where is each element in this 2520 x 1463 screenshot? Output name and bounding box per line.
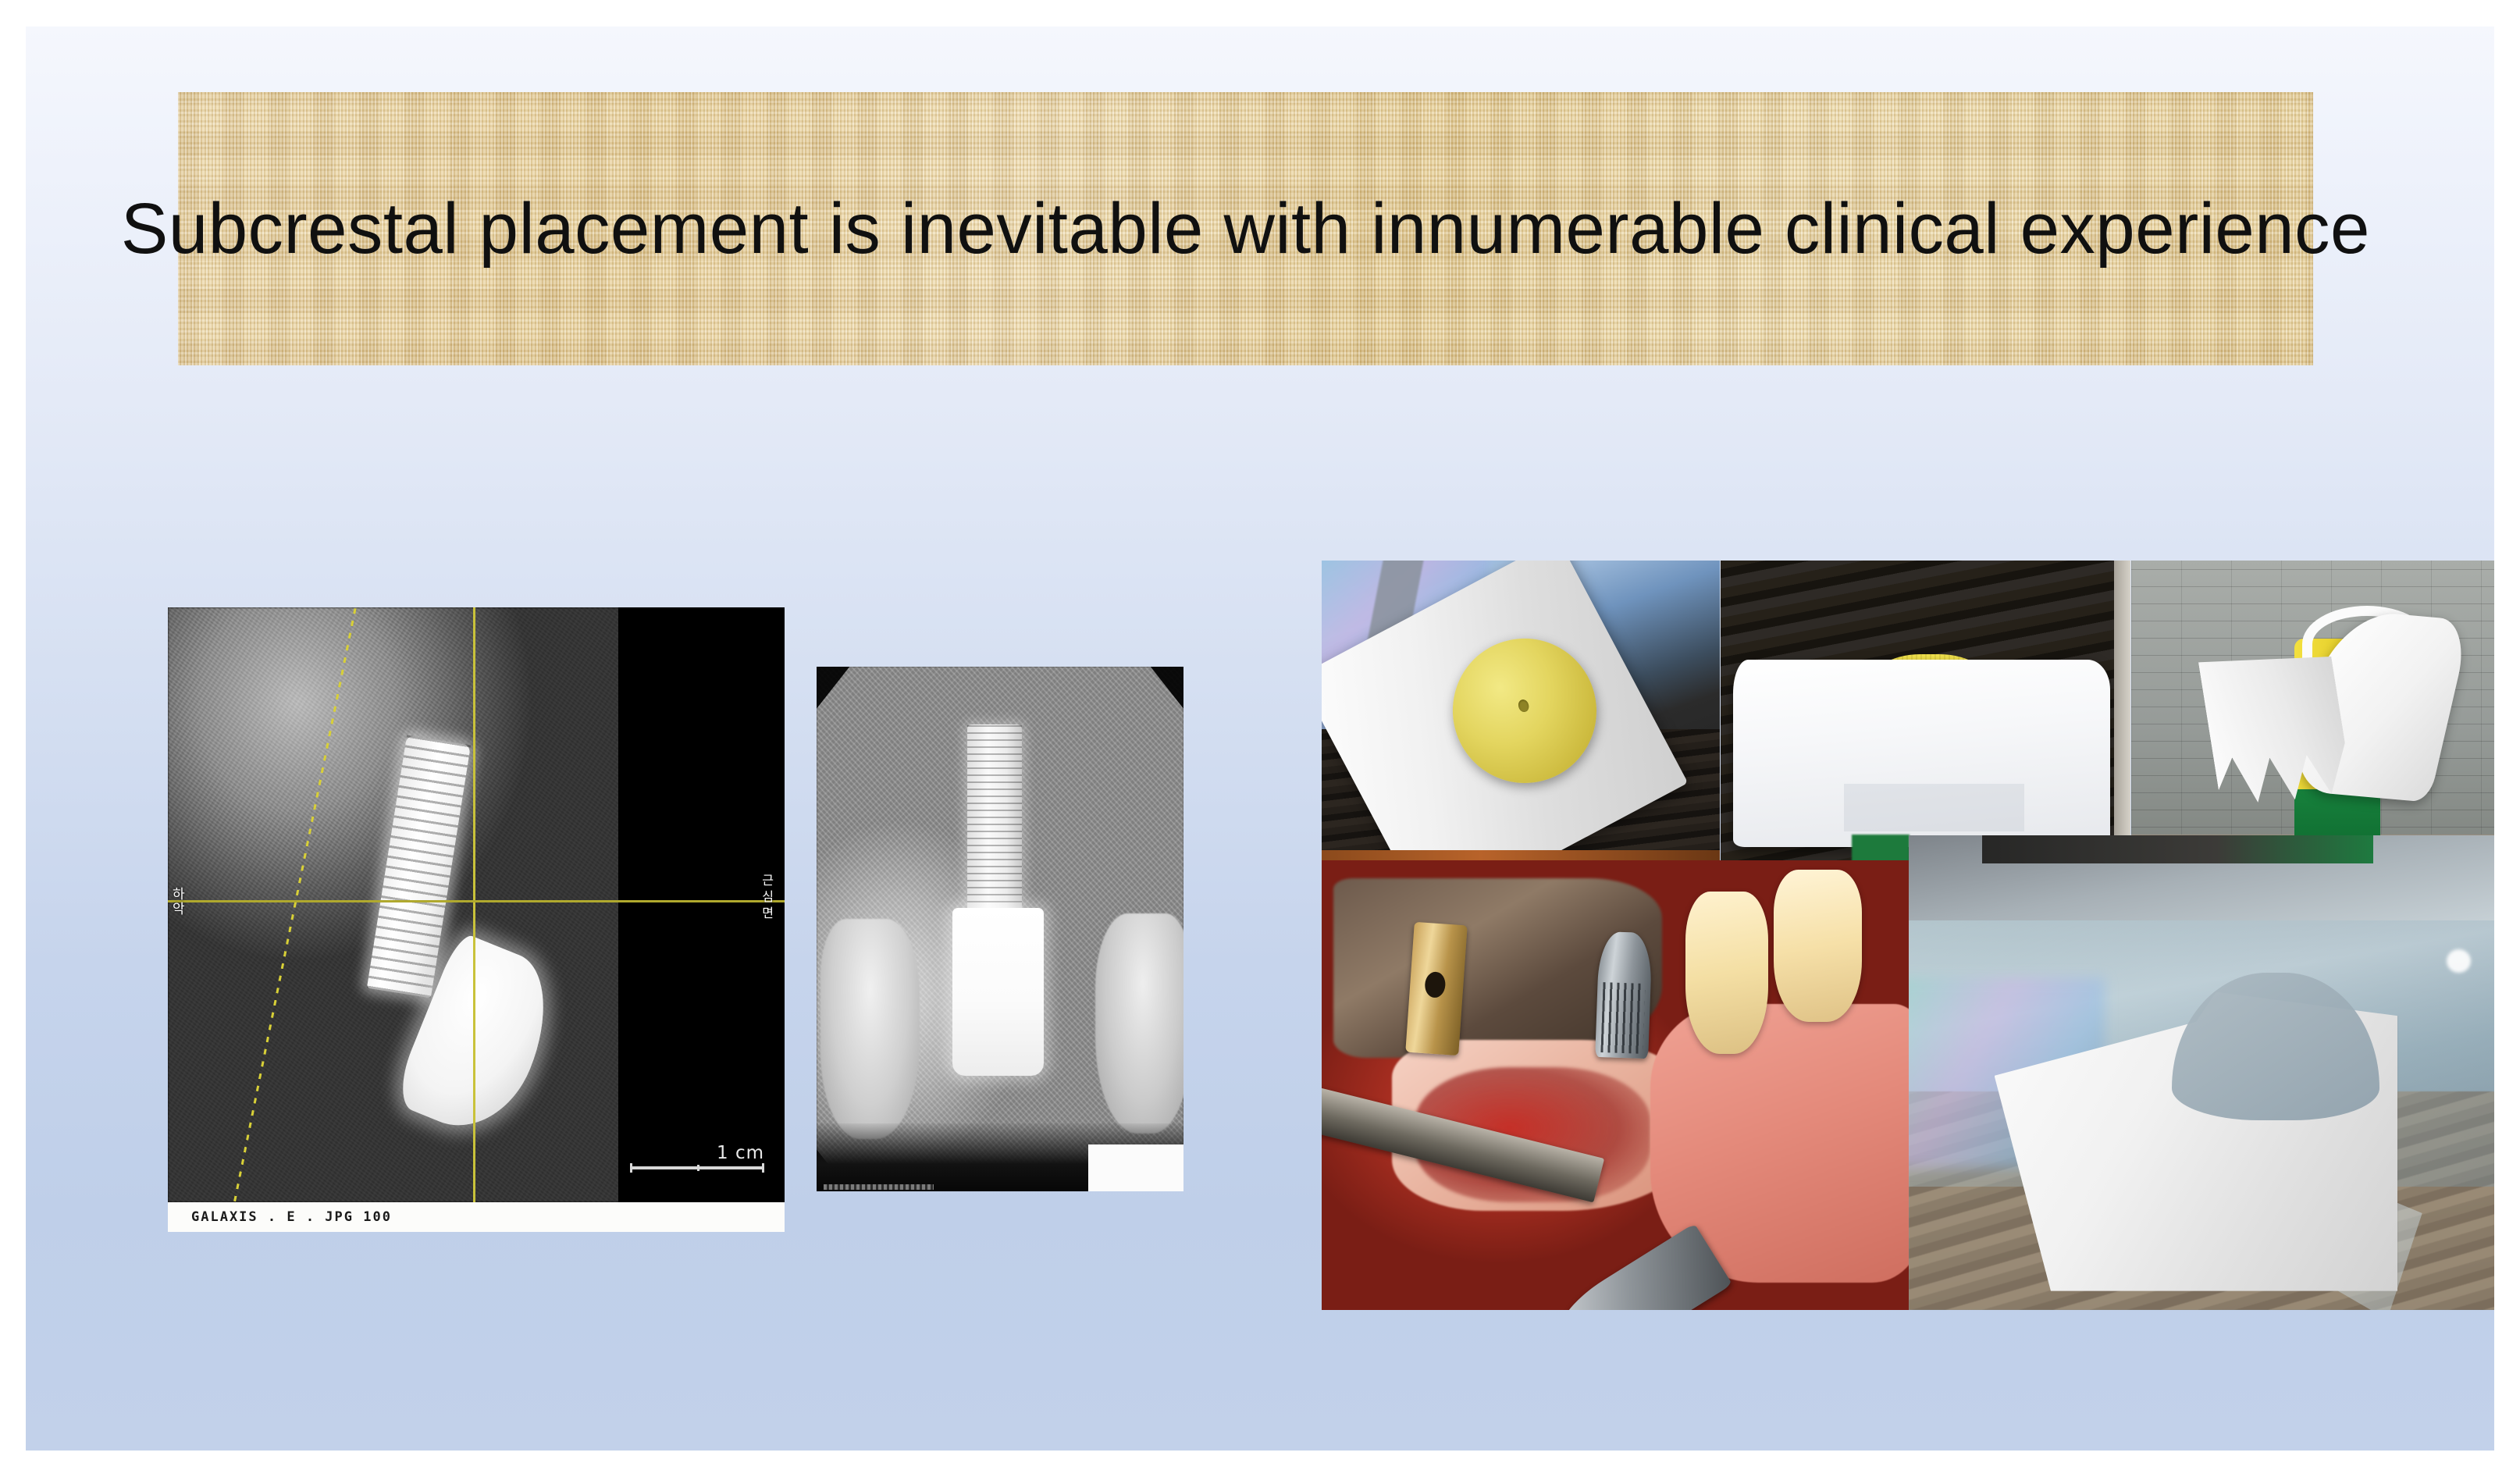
cbct-scale-bar: 1 cm [630, 1143, 764, 1169]
cbct-footer-bar: GALAXIS . E . JPG 100 [168, 1202, 785, 1232]
periapical-crown-restoration [952, 908, 1045, 1076]
cbct-crosshair-vertical [473, 607, 475, 1202]
title-banner: Subcrestal placement is inevitable with … [178, 92, 2313, 365]
photo4-gold-abutment [1405, 921, 1467, 1055]
photo4-natural-tooth-2 [1774, 870, 1862, 1023]
periapical-id-strip [824, 1184, 934, 1190]
cbct-scale-label: 1 cm [630, 1143, 764, 1163]
cbct-cross-section-image: 하악 근심면 1 cm GALAXIS . E . JPG 100 [168, 607, 785, 1232]
cbct-left-orientation-label: 하악 [173, 888, 185, 917]
photo2-paper-shadow [1844, 784, 2024, 832]
periapical-radiograph-image [817, 667, 1183, 1191]
photo5-top-strip [1982, 835, 2373, 863]
photo4-titanium-abutment [1596, 931, 1653, 1059]
periapical-adjacent-tooth-right [1095, 913, 1183, 1134]
cbct-right-orientation-label: 근심면 [762, 872, 774, 921]
periapical-implant-fixture [967, 724, 1023, 924]
cbct-viewport: 하악 근심면 1 cm [168, 607, 785, 1202]
periapical-corner-tab [1088, 1144, 1183, 1191]
cbct-void-region [618, 607, 785, 1202]
photo-curved-cut-paper [1909, 835, 2494, 1310]
photo-bottle-wrapped [2131, 561, 2494, 862]
photo4-natural-tooth-1 [1685, 892, 1767, 1053]
photo-intraoral-surgery [1322, 860, 1909, 1310]
photo-cap-half-covered [1721, 561, 2130, 862]
cbct-footer-text: GALAXIS . E . JPG 100 [168, 1209, 392, 1225]
cbct-scale-ruler [630, 1166, 764, 1169]
photo2-green-bottle-body [1852, 835, 1910, 862]
slide-canvas: Subcrestal placement is inevitable with … [26, 27, 2494, 1451]
periapical-adjacent-tooth-left [820, 919, 920, 1139]
photo2-right-edge [2114, 561, 2130, 862]
photo-cap-on-paper [1322, 561, 1720, 862]
slide-title: Subcrestal placement is inevitable with … [121, 193, 2370, 265]
cbct-crosshair-horizontal [168, 900, 785, 902]
